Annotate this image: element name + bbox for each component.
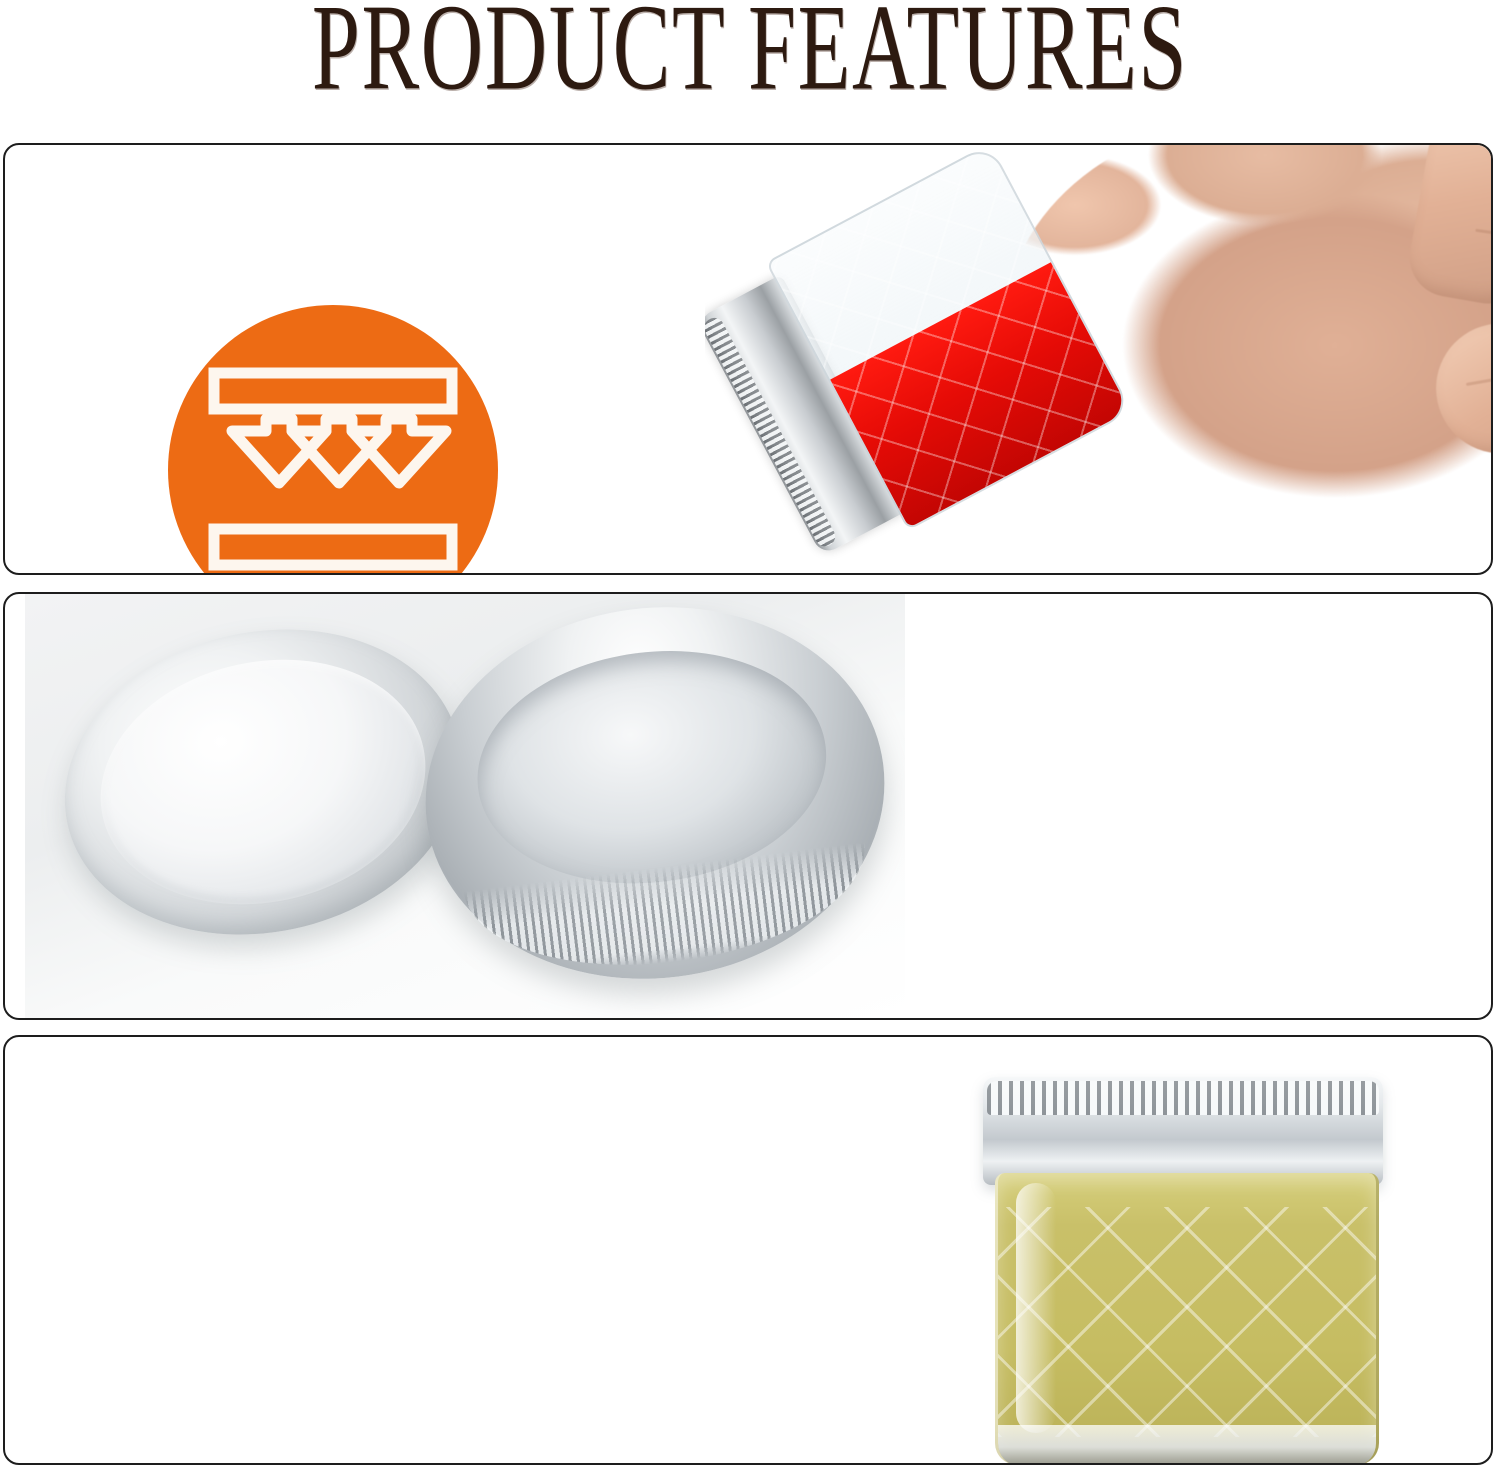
lid-and-screw-band-photo [25, 594, 905, 1018]
hand-holding-tilted-sealed-jar-photo [705, 145, 1493, 573]
page-title: PRODUCT FEATURES [150, 0, 1350, 103]
feature-panel-bpa-free: BPA FREE BPA FREE [3, 1035, 1493, 1465]
jar-screw-lid [983, 1077, 1383, 1185]
glass-highlight [1016, 1183, 1056, 1433]
thumb [1424, 291, 1493, 466]
feature-sealed-storage: SEALD STORAGE [73, 305, 593, 575]
feature-panel-easy-to-clean: EASY TO CLEAN [3, 592, 1493, 1020]
jar-glass-body [995, 1173, 1379, 1465]
seal-compression-icon-circle [168, 305, 498, 575]
index-finger [1404, 145, 1493, 310]
jar-base [998, 1425, 1376, 1465]
seal-compression-icon [168, 305, 498, 575]
feature-panel-sealed-storage: SEALD STORAGE [3, 143, 1493, 575]
yellow-filled-quilted-jar-photo [935, 1055, 1435, 1465]
screw-band-ring [404, 594, 905, 1005]
